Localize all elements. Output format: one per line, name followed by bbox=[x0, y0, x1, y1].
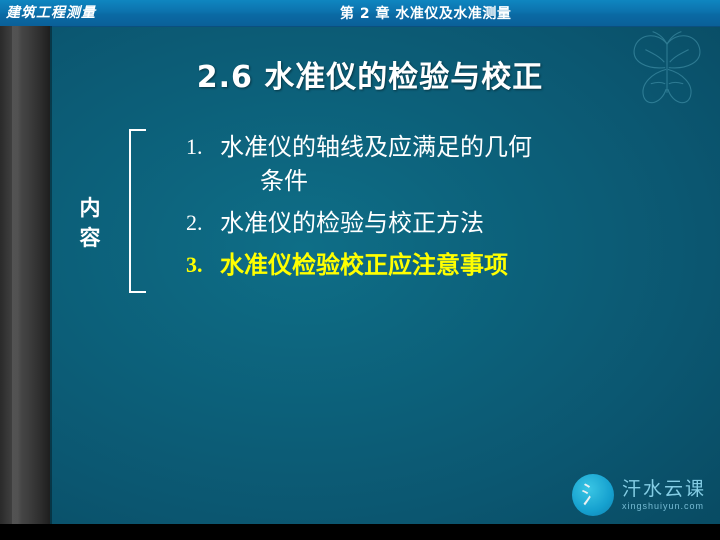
watermark-text: 汗水云课 xingshuiyun.com bbox=[622, 478, 706, 512]
list-item-text: 水准仪的轴线及应满足的几何 条件 bbox=[220, 130, 656, 198]
list-item-number: 1. bbox=[186, 130, 220, 164]
content-label-line-1: 内 bbox=[62, 193, 118, 223]
list-item: 3. 水准仪检验校正应注意事项 bbox=[186, 248, 656, 282]
course-title: 建筑工程测量 bbox=[6, 2, 96, 22]
watermark-circle-icon: 氵 bbox=[572, 474, 614, 516]
page-title: 2.6 水准仪的检验与校正 bbox=[90, 52, 650, 96]
content-list: 1. 水准仪的轴线及应满足的几何 条件 2. 水准仪的检验与校正方法 3. 水准… bbox=[186, 130, 656, 290]
list-item-number: 3. bbox=[186, 248, 220, 282]
strip-sheen bbox=[12, 26, 22, 540]
watermark-logo: 氵 汗水云课 xingshuiyun.com bbox=[572, 474, 706, 516]
brace-bracket bbox=[122, 128, 148, 294]
bottom-bar bbox=[0, 524, 720, 540]
list-item-text: 水准仪检验校正应注意事项 bbox=[220, 248, 656, 282]
content-label: 内 容 bbox=[62, 193, 118, 253]
watermark-mark: 氵 bbox=[581, 480, 605, 510]
slide-header-banner: 建筑工程测量 第 2 章 水准仪及水准测量 bbox=[0, 0, 720, 27]
strip-edge-shadow bbox=[50, 26, 52, 540]
watermark-subtitle: xingshuiyun.com bbox=[622, 500, 706, 512]
chapter-title: 第 2 章 水准仪及水准测量 bbox=[340, 3, 511, 23]
left-decorative-strip bbox=[0, 26, 50, 540]
list-item: 2. 水准仪的检验与校正方法 bbox=[186, 206, 656, 240]
list-item-text-line-1: 水准仪的轴线及应满足的几何 bbox=[220, 133, 532, 161]
watermark-title: 汗水云课 bbox=[622, 478, 706, 500]
list-item: 1. 水准仪的轴线及应满足的几何 条件 bbox=[186, 130, 656, 198]
slide-canvas: 建筑工程测量 第 2 章 水准仪及水准测量 2.6 水准仪的检验与校正 内 容 bbox=[0, 0, 720, 540]
list-item-number: 2. bbox=[186, 206, 220, 240]
content-label-line-2: 容 bbox=[62, 223, 118, 253]
list-item-text-line-2: 条件 bbox=[220, 164, 656, 198]
list-item-text: 水准仪的检验与校正方法 bbox=[220, 206, 656, 240]
